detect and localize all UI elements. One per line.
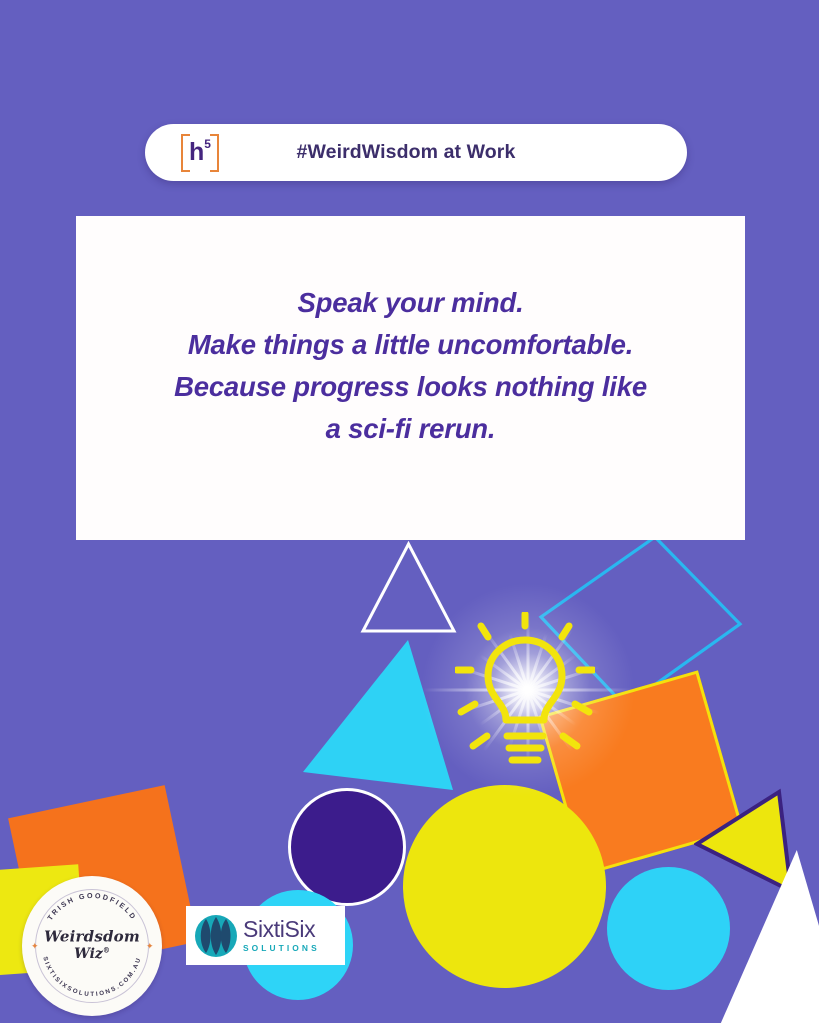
badge-bottom-arc: SIXTISIXSOLUTIONS.COM.AU [41,956,142,998]
badge-name-line2: Wiz® [22,946,162,961]
triangle-yellow-right-shape [694,788,795,895]
badge-top-arc: TRISH GOODFIELD [45,891,138,922]
circle-dark-purple-shape [288,788,406,906]
quote-line-2: Make things a little uncomfortable. [76,324,745,366]
circle-yellow-large-shape [403,785,606,988]
sixtisix-name: SixtiSix [243,918,320,941]
weirdsdom-wiz-badge[interactable]: TRISH GOODFIELD SIXTISIXSOLUTIONS.COM.AU… [22,876,162,1016]
badge-registered-mark: ® [103,945,110,954]
badge-bottom-arc-text: SIXTISIXSOLUTIONS.COM.AU [41,956,142,998]
triangle-cyan-filled-shape [303,640,453,790]
lightbulb-icon [455,612,595,787]
badge-center-text: Weirdsdom Wiz® [22,929,162,961]
sixtisix-subtitle: SOLUTIONS [243,944,320,952]
quote-line-3: Because progress looks nothing like [76,366,745,408]
sixtisix-waves-icon [193,914,239,958]
quote-card: Speak your mind. Make things a little un… [76,216,745,540]
quote-text: Speak your mind. Make things a little un… [76,282,745,450]
h5-logo-icon: h5 [181,134,219,172]
h5-logo-mark: h5 [181,134,219,172]
sixtisix-solutions-logo[interactable]: SixtiSix SOLUTIONS [186,906,345,965]
badge-name-line1: Weirdsdom [22,929,162,945]
quote-line-1: Speak your mind. [76,282,745,324]
header-pill[interactable]: h5 #WeirdWisdom at Work [145,124,687,181]
social-post-canvas: h5 #WeirdWisdom at Work Speak your mind.… [0,0,819,1023]
badge-name-line2-text: Wiz [74,946,103,962]
header-title: #WeirdWisdom at Work [145,141,687,164]
quote-line-4: a sci-fi rerun. [76,408,745,450]
sixtisix-wordmark: SixtiSix SOLUTIONS [243,918,320,952]
badge-top-arc-text: TRISH GOODFIELD [45,891,138,922]
h5-logo-letter: h [189,140,204,165]
triangle-white-outline-shape [360,541,457,634]
h5-logo-superscript: 5 [204,138,211,150]
